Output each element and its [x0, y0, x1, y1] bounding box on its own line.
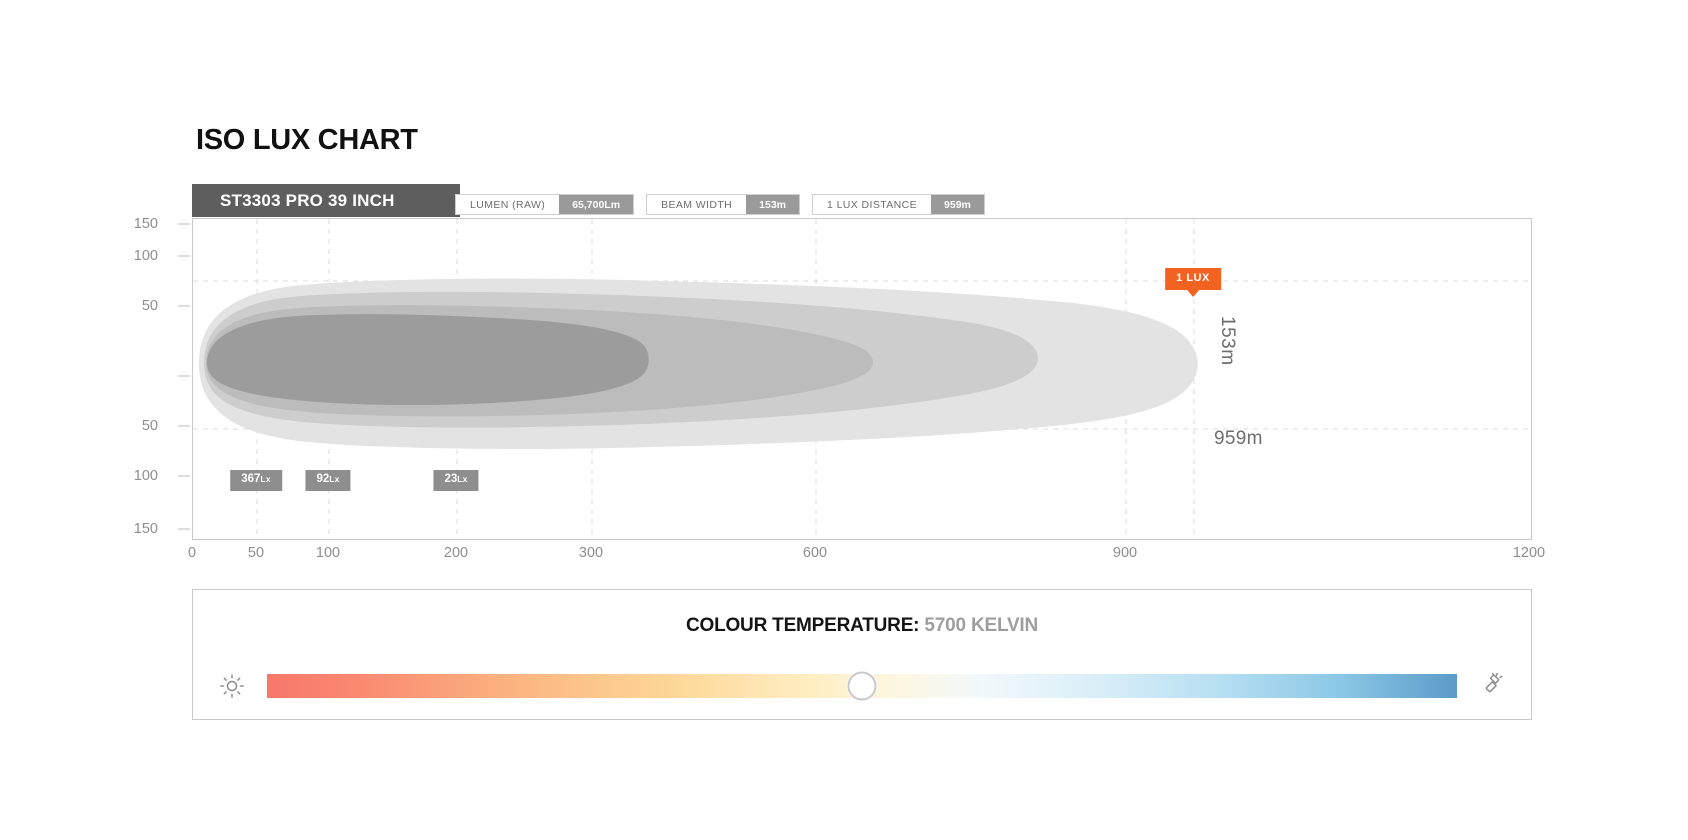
spec-key-lux-distance: 1 LUX DISTANCE	[813, 195, 931, 214]
colour-temperature-label: COLOUR TEMPERATURE:	[686, 615, 919, 636]
y-tick-mark-2	[178, 306, 190, 307]
y-tick-mark-3	[178, 376, 190, 377]
y-tick-label-6: 150	[134, 521, 158, 537]
spec-value-lux-distance: 959m	[931, 195, 984, 214]
spec-pill-lux-distance: 1 LUX DISTANCE 959m	[812, 194, 985, 215]
colour-temperature-knob[interactable]	[848, 672, 877, 701]
y-tick-label-0: 150	[134, 216, 158, 232]
torch-icon	[1479, 673, 1505, 699]
x-tick-label-200: 200	[444, 545, 468, 561]
x-tick-label-0: 0	[188, 545, 196, 561]
beam-pattern-canvas	[193, 219, 1531, 539]
y-tick-mark-0	[178, 224, 190, 225]
spec-key-lumen: LUMEN (RAW)	[456, 195, 559, 214]
colour-temperature-title: COLOUR TEMPERATURE: 5700 KELVIN	[193, 615, 1531, 637]
x-tick-label-1200: 1200	[1513, 545, 1545, 561]
y-tick-mark-4	[178, 426, 190, 427]
beam-contours-svg	[193, 219, 1531, 539]
spec-pill-row: LUMEN (RAW) 65,700Lm BEAM WIDTH 153m 1 L…	[455, 194, 985, 215]
x-tick-label-600: 600	[803, 545, 827, 561]
colour-temperature-slider-row[interactable]	[219, 664, 1505, 708]
x-tick-label-50: 50	[248, 545, 264, 561]
x-axis: 0 50 100 200 300 600 900 1200	[192, 545, 1532, 569]
y-tick-mark-6	[178, 529, 190, 530]
y-tick-label-5: 100	[134, 468, 158, 484]
chart-plot-area	[192, 218, 1532, 540]
spec-value-beam-width: 153m	[746, 195, 799, 214]
x-tick-label-300: 300	[579, 545, 603, 561]
iso-lux-chart-page: ISO LUX CHART ST3303 PRO 39 INCH LUMEN (…	[0, 0, 1688, 840]
y-tick-mark-5	[178, 476, 190, 477]
colour-temperature-value: 5700 KELVIN	[924, 615, 1038, 636]
spec-key-beam-width: BEAM WIDTH	[647, 195, 746, 214]
colour-temperature-gradient-track[interactable]	[267, 674, 1457, 698]
product-name-tab: ST3303 PRO 39 INCH	[192, 184, 460, 217]
spec-value-lumen: 65,700Lm	[559, 195, 633, 214]
y-tick-label-1: 100	[134, 248, 158, 264]
x-tick-label-900: 900	[1113, 545, 1137, 561]
spec-pill-beam-width: BEAM WIDTH 153m	[646, 194, 800, 215]
page-title: ISO LUX CHART	[196, 124, 418, 157]
beam-contour-367lux	[207, 314, 649, 405]
product-name-label: ST3303 PRO 39 INCH	[192, 191, 395, 211]
y-tick-label-2: 50	[142, 298, 158, 314]
sun-icon	[219, 673, 245, 699]
x-tick-label-100: 100	[316, 545, 340, 561]
spec-pill-lumen: LUMEN (RAW) 65,700Lm	[455, 194, 634, 215]
y-axis: 150 100 50 50 100 150	[0, 218, 190, 540]
colour-temperature-panel: COLOUR TEMPERATURE: 5700 KELVIN	[192, 589, 1532, 720]
y-tick-mark-1	[178, 256, 190, 257]
y-tick-label-4: 50	[142, 418, 158, 434]
